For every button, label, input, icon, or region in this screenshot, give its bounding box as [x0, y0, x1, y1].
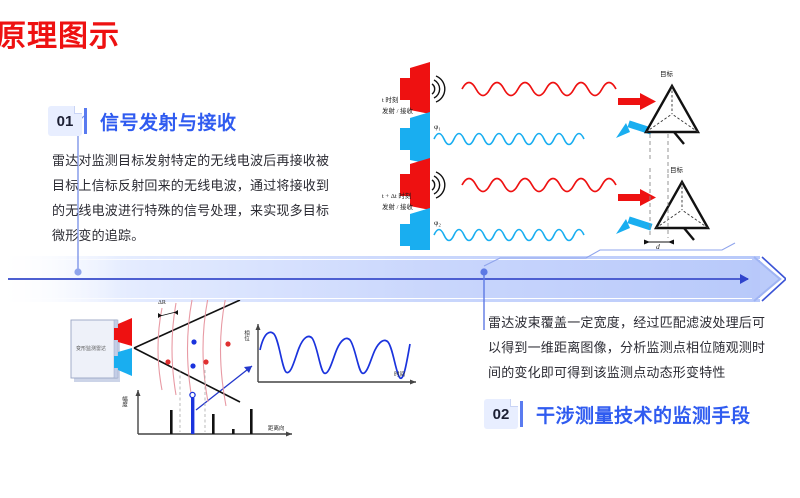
section-01-accent-bar	[84, 108, 87, 134]
section-01-body-line: 微形变的追踪。	[52, 223, 368, 248]
section-01-body-line: 的无线电波进行特殊的信号处理，来实现多目标	[52, 198, 368, 223]
arrow-band-inner-arrow	[8, 278, 748, 280]
section-01-body-line: 雷达对监测目标发射特定的无线电波后再接收被	[52, 148, 368, 173]
phase-chart-y-axis-label: 相位	[242, 330, 249, 341]
time-label-row1-line1: t 时刻	[382, 96, 398, 105]
diagram-signal-transmit-receive: t 时刻 发射 / 接收 φ₁ 目标 t + Δt 时刻 发射 / 接收 φ₂ …	[382, 62, 800, 250]
range-bar	[232, 429, 235, 434]
receive-waveform-row1	[434, 134, 584, 145]
phase-waveform	[260, 332, 410, 378]
section-02-body-line: 间的变化即可得到该监测点动态形变特性	[488, 360, 800, 385]
reference-dashed-lines-row1	[650, 134, 668, 162]
target-triangle-icon-row2	[656, 182, 708, 240]
slide-canvas: 原理图示 01 信号发射与接收 雷达对监测目标发射特定	[0, 0, 800, 498]
time-label-row2-line2: 发射 / 接收	[382, 203, 413, 212]
target-triangle-icon-row1	[646, 86, 698, 144]
receive-speaker-icon-row2	[400, 208, 430, 250]
monitoring-point-blue	[190, 363, 195, 368]
range-bar	[250, 409, 253, 434]
range-chart-y-axis-label: 幅度	[120, 396, 127, 407]
timeline-arrow-band	[0, 256, 784, 302]
section-02-accent-bar	[520, 401, 523, 427]
phase-chart-x-axis-label: 时间	[394, 372, 405, 379]
receive-waveform-row2	[434, 230, 584, 241]
transmit-waveform-row1	[462, 83, 616, 96]
receive-speaker-icon-row1	[400, 112, 430, 164]
section-02-body-line: 以得到一维距离图像，分析监测点相位随观测时	[488, 335, 800, 360]
section-02: 雷达波束覆盖一定宽度，经过匹配滤波处理后可 以得到一维距离图像，分析监测点相位随…	[484, 310, 800, 429]
section-02-body-line: 雷达波束覆盖一定宽度，经过匹配滤波处理后可	[488, 310, 800, 335]
section-01-title: 信号发射与接收	[100, 108, 237, 135]
target-label-row2: 目标	[670, 166, 683, 175]
sound-wave-arcs-icon-row2	[432, 172, 445, 198]
section-01-header: 01 信号发射与接收	[48, 106, 368, 136]
sound-wave-arcs-icon-row1	[432, 76, 445, 102]
section-02-title: 干涉测量技术的监测手段	[536, 401, 751, 428]
range-bar-highlight	[191, 398, 194, 434]
peak-marker	[190, 392, 195, 397]
time-label-row1-line2: 发射 / 接收	[382, 107, 413, 116]
range-bar	[170, 410, 173, 434]
diagram-interferometry-monitoring: 变形监测雷达 ΔR 幅度 距离向 相位 时间	[62, 300, 442, 460]
page-title: 原理图示	[0, 20, 120, 54]
monitoring-point-red	[203, 359, 208, 364]
phase-label-row1: φ₁	[434, 122, 441, 131]
target-label-row1: 目标	[660, 70, 673, 79]
phase-time-chart	[256, 324, 417, 385]
monitoring-point-red	[165, 359, 170, 364]
section-01-number-badge: 01	[48, 106, 82, 136]
range-chart-x-axis-label: 距离向	[268, 426, 285, 433]
time-label-row2-line1: t + Δt 时刻	[382, 192, 411, 201]
section-02-header: 02 干涉测量技术的监测手段	[484, 399, 800, 429]
transmit-waveform-row2	[462, 179, 616, 192]
diagram-top-svg	[382, 62, 800, 250]
section-01-body-line: 目标上信标反射回来的无线电波，通过将接收到	[52, 173, 368, 198]
section-01: 01 信号发射与接收 雷达对监测目标发射特定的无线电波后再接收被 目标上信标反射…	[48, 106, 368, 248]
phase-label-row2: φ₂	[434, 218, 441, 227]
range-resolution-label: ΔR	[158, 300, 166, 307]
transmit-arrow-row1	[618, 93, 656, 110]
monitoring-point-red	[225, 341, 230, 346]
section-01-body: 雷达对监测目标发射特定的无线电波后再接收被 目标上信标反射回来的无线电波，通过将…	[52, 148, 368, 248]
diagram-bottom-svg	[62, 300, 442, 460]
receive-arrow-row2	[616, 216, 652, 234]
displacement-label-d: d	[656, 242, 660, 251]
range-bar	[212, 414, 215, 434]
section-02-body: 雷达波束覆盖一定宽度，经过匹配滤波处理后可 以得到一维距离图像，分析监测点相位随…	[488, 310, 800, 385]
section-02-number-badge: 02	[484, 399, 518, 429]
radar-unit-label: 变形监测雷达	[76, 346, 106, 353]
monitoring-point-blue	[191, 339, 196, 344]
arrow-band-chevron-icon	[750, 256, 786, 302]
